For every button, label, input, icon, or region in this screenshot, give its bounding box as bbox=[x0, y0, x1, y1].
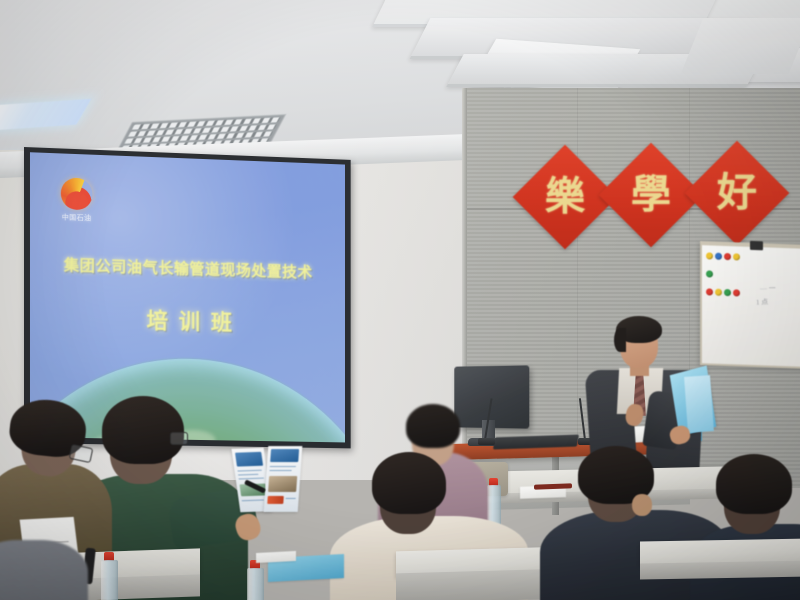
petrochina-sun-icon bbox=[61, 177, 93, 210]
plaque-character: 樂 bbox=[545, 177, 585, 217]
water-bottle bbox=[246, 560, 264, 600]
whiteboard: — 一 1 点 bbox=[700, 241, 800, 369]
photo-scene: 樂 學 好 — 一 1 点 中国石油 集团公司油气长输管道现 bbox=[0, 0, 800, 600]
brochure-right-page bbox=[264, 446, 303, 512]
ceiling-panel bbox=[681, 18, 800, 74]
binder-clip-icon bbox=[750, 241, 763, 250]
recessed-light-icon bbox=[0, 99, 91, 132]
attendee-table-front-right-edge bbox=[640, 561, 800, 580]
eyeglasses-icon bbox=[170, 432, 188, 445]
attendee-dark-suit-right bbox=[690, 458, 800, 600]
wall-plaque-2: 學 bbox=[614, 158, 688, 232]
whiteboard-note: 1 点 bbox=[756, 297, 769, 307]
petrochina-logo-caption: 中国石油 bbox=[52, 212, 101, 224]
whiteboard-note: — 一 bbox=[760, 283, 776, 293]
whiteboard-magnets bbox=[705, 247, 749, 303]
wall-plaque-3: 好 bbox=[700, 156, 774, 230]
plaque-character: 好 bbox=[717, 173, 757, 213]
wall-plaque-1: 樂 bbox=[528, 160, 602, 234]
speaker-hair-side bbox=[614, 328, 626, 352]
papers-on-table bbox=[256, 551, 296, 563]
attendee-ear bbox=[632, 494, 652, 516]
slide-subtitle: 培训班 bbox=[30, 300, 345, 340]
plaque-character: 學 bbox=[631, 175, 671, 215]
petrochina-logo: 中国石油 bbox=[52, 177, 101, 224]
speaker-handout-papers bbox=[684, 375, 714, 433]
slide-title: 集团公司油气长输管道现场处置技术 bbox=[30, 252, 345, 283]
water-bottle bbox=[100, 552, 118, 600]
attendee-grey-left bbox=[0, 530, 90, 600]
